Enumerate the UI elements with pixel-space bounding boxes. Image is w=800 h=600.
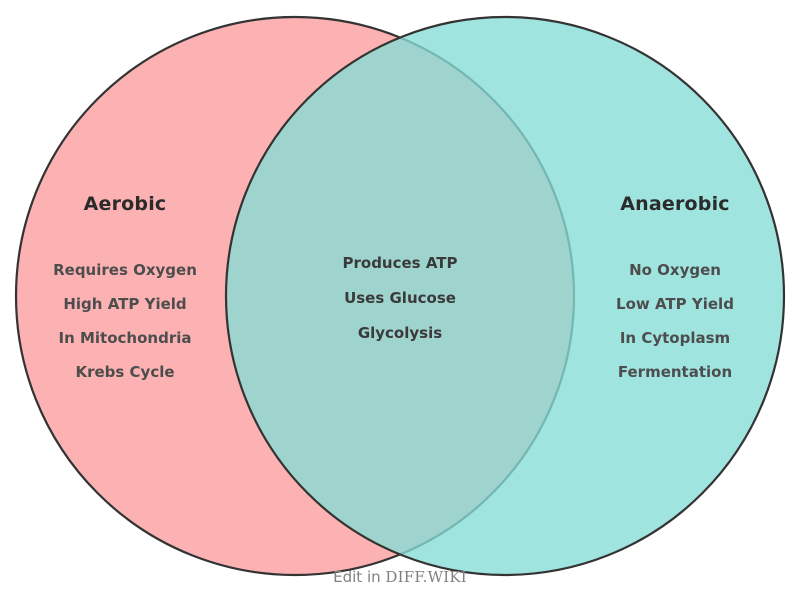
venn-right-title: Anaerobic — [575, 193, 775, 215]
watermark-brand: DIFF.WIKI — [385, 568, 466, 586]
venn-intersection-item-list: Produces ATP Uses Glucose Glycolysis — [300, 246, 500, 351]
venn-left-title: Aerobic — [25, 193, 225, 215]
list-item: Fermentation — [575, 355, 775, 389]
list-item: Low ATP Yield — [575, 287, 775, 321]
list-item: Requires Oxygen — [25, 253, 225, 287]
venn-region-intersection[interactable]: Produces ATP Uses Glucose Glycolysis — [300, 246, 500, 351]
venn-region-right[interactable]: Anaerobic No Oxygen Low ATP Yield In Cyt… — [575, 193, 775, 389]
venn-left-item-list: Requires Oxygen High ATP Yield In Mitoch… — [25, 253, 225, 389]
venn-right-item-list: No Oxygen Low ATP Yield In Cytoplasm Fer… — [575, 253, 775, 389]
list-item: Glycolysis — [300, 316, 500, 351]
edit-in-diffwiki-link[interactable]: Edit in DIFF.WIKI — [0, 568, 800, 586]
list-item: Krebs Cycle — [25, 355, 225, 389]
list-item: High ATP Yield — [25, 287, 225, 321]
venn-region-left[interactable]: Aerobic Requires Oxygen High ATP Yield I… — [25, 193, 225, 389]
list-item: Produces ATP — [300, 246, 500, 281]
watermark-prefix: Edit in — [333, 568, 385, 586]
list-item: In Cytoplasm — [575, 321, 775, 355]
list-item: In Mitochondria — [25, 321, 225, 355]
list-item: Uses Glucose — [300, 281, 500, 316]
list-item: No Oxygen — [575, 253, 775, 287]
venn-diagram: Aerobic Requires Oxygen High ATP Yield I… — [0, 0, 800, 600]
